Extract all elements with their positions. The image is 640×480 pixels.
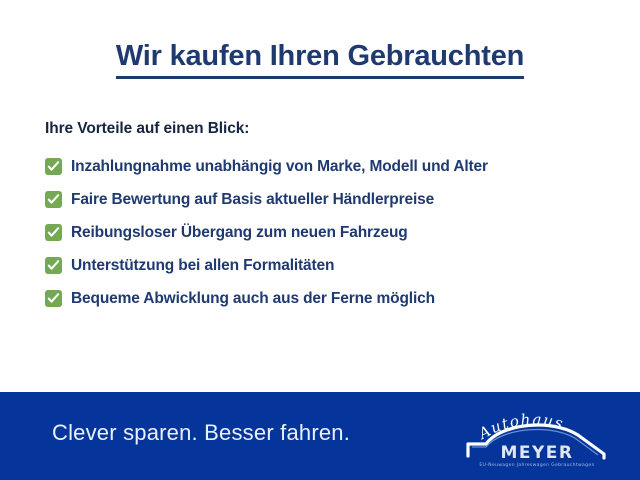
footer-banner: Clever sparen. Besser fahren. Autohaus M…: [0, 392, 640, 480]
list-item: Faire Bewertung auf Basis aktueller Händ…: [45, 183, 615, 216]
list-item: Bequeme Abwicklung auch aus der Ferne mö…: [45, 282, 615, 315]
list-item: Reibungsloser Übergang zum neuen Fahrzeu…: [45, 216, 615, 249]
list-item: Inzahlungnahme unabhängig von Marke, Mod…: [45, 150, 615, 183]
benefits-list: Inzahlungnahme unabhängig von Marke, Mod…: [45, 150, 615, 315]
check-icon: [45, 290, 62, 307]
page-title: Wir kaufen Ihren Gebrauchten: [116, 40, 524, 79]
list-item-label: Reibungsloser Übergang zum neuen Fahrzeu…: [71, 224, 408, 242]
dealer-logo: Autohaus MEYER EU-Neuwagen Jahreswagen G…: [462, 400, 612, 470]
check-icon: [45, 158, 62, 175]
subheading: Ihre Vorteile auf einen Blick:: [45, 120, 249, 138]
tagline: Clever sparen. Besser fahren.: [52, 420, 350, 446]
list-item-label: Faire Bewertung auf Basis aktueller Händ…: [71, 191, 434, 209]
check-icon: [45, 191, 62, 208]
check-icon: [45, 257, 62, 274]
list-item: Unterstützung bei allen Formalitäten: [45, 249, 615, 282]
list-item-label: Bequeme Abwicklung auch aus der Ferne mö…: [71, 290, 435, 308]
logo-script-name: Autohaus: [474, 410, 566, 443]
check-icon: [45, 224, 62, 241]
advertisement-banner: Wir kaufen Ihren Gebrauchten Ihre Vortei…: [0, 0, 640, 480]
list-item-label: Unterstützung bei allen Formalitäten: [71, 257, 334, 275]
logo-subline: EU-Neuwagen Jahreswagen Gebrauchtwagen: [479, 462, 594, 468]
headline-container: Wir kaufen Ihren Gebrauchten: [0, 40, 640, 79]
logo-brand-name: MEYER: [500, 443, 573, 463]
list-item-label: Inzahlungnahme unabhängig von Marke, Mod…: [71, 158, 488, 176]
